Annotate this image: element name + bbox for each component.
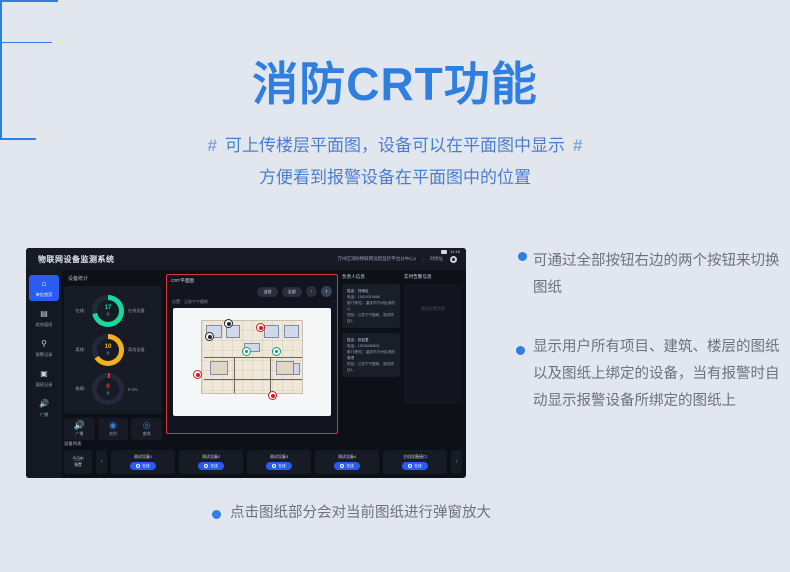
status-dot-icon [272, 464, 276, 468]
sidebar-item-broadcast[interactable]: 🔊 广播 [29, 395, 59, 421]
sidebar-label-2: 报警记录 [36, 352, 53, 358]
bell-icon: ⚲ [38, 339, 50, 350]
status-badge: 在线 [266, 462, 291, 470]
gauge-sub-2: 0.0% [128, 387, 152, 392]
device-list: 千日中 装置 ‹ 测试设备1 在线 测试设备2 在线 测试设备3 在线 测试设备 [64, 450, 462, 474]
device-status: 在线 [210, 464, 217, 469]
topbar-divider: | [422, 257, 423, 262]
gauge-unit-2: 台 [106, 390, 109, 395]
page-title: 消防CRT功能 [0, 48, 790, 114]
chevron-right-icon[interactable]: › [451, 450, 462, 474]
quick-button-inspect[interactable]: ◎ 查岗 [131, 418, 162, 440]
plan-wall [270, 357, 271, 393]
gauge-row-fault: 故障： 0 台 0.0% [68, 373, 158, 405]
alarm-header: 实时告警信息 [404, 274, 462, 280]
device-name: 测试设备1 [134, 454, 152, 460]
app-topbar: 物联网设备监测系统 万州区消防物联网远程监控平台分中心1 | 刘地址 11:16 [26, 248, 466, 270]
contact-org: 部门/职位：重庆市万州区消防公 [347, 300, 395, 312]
annotation-show-drawings: 显示用户所有项目、建筑、楼层的图纸以及图纸上绑定的设备，当有报警时自动显示报警设… [533, 334, 783, 415]
stats-header: 设备统计 [68, 275, 162, 282]
quick-button-realtime[interactable]: ◉ 实时 [98, 418, 129, 440]
plan-wall [204, 379, 302, 380]
device-status: 在线 [414, 464, 421, 469]
gauge-row-offline: 离线： 10 台 离线设备 [68, 334, 158, 366]
quick-label-1: 实时 [109, 431, 117, 437]
status-badge: 在线 [334, 462, 359, 470]
gauge-ring-online: 17 台 [92, 295, 124, 327]
owner-column: 负责人信息 姓名：刘地址 电话：15024210668 部门/职位：重庆市万州区… [342, 274, 400, 434]
annotation-click-zoom: 点击图纸部分会对当前图纸进行弹窗放大 [230, 500, 630, 527]
speaker-icon: 🔊 [74, 421, 85, 430]
leader-dot-1 [518, 252, 527, 261]
status-badge: 在线 [402, 462, 427, 470]
leader-line-2 [0, 42, 52, 44]
plan-wall [204, 357, 302, 358]
speaker-icon: 🔊 [38, 399, 50, 410]
leader-line-1-vertical [0, 2, 2, 42]
alarm-empty-state: 暂无告警信息 [404, 284, 462, 404]
gear-icon[interactable] [449, 255, 458, 264]
plan-room [284, 325, 299, 338]
gauge-unit-0: 台 [106, 311, 109, 316]
device-card[interactable]: 测试设备3 在线 [247, 450, 311, 474]
home-icon: ⌂ [38, 279, 50, 290]
hash-left: # [208, 136, 217, 155]
alarm-marker-red[interactable] [256, 323, 265, 332]
status-dot-icon [136, 464, 140, 468]
sidebar-item-duty[interactable]: ▣ 值班记录 [29, 365, 59, 391]
hash-right: # [573, 136, 582, 155]
app-logo: 物联网设备监测系统 [38, 254, 115, 265]
device-marker-green[interactable] [272, 347, 281, 356]
crt-controls: 当前 全部 ‹ › [167, 284, 337, 297]
gauge-sub-1: 离线设备 [128, 347, 152, 353]
status-dot-icon [340, 464, 344, 468]
cycle-icon: ◎ [143, 421, 151, 430]
leader-line-1 [0, 0, 58, 2]
annotation-switch-drawing: 可通过全部按钮右边的两个按钮来切换图纸 [533, 248, 783, 302]
status-mini: 11:16 [441, 249, 460, 254]
contact-org: 部门/职位：重庆市万州区消防管理 [347, 349, 395, 361]
sidebar-label-4: 广播 [40, 412, 48, 418]
alarm-column: 实时告警信息 暂无告警信息 [404, 274, 462, 434]
device-name: 主机设备接口 [403, 454, 427, 460]
crt-breadcrumb: 位置：江苏宁宁楼栋 [172, 299, 337, 305]
contact-note: 项目：江苏宁宁楼栋，测试项目1、 [347, 312, 395, 324]
crt-current-button[interactable]: 当前 [257, 287, 277, 297]
device-marker-dark[interactable] [205, 332, 214, 341]
alarm-marker-red[interactable] [268, 391, 277, 400]
quick-label-2: 查岗 [143, 431, 151, 437]
plan-wall [234, 357, 235, 393]
battery-icon [441, 250, 447, 254]
owner-header: 负责人信息 [342, 274, 400, 280]
quick-button-row: 🔊 广播 ◉ 实时 ◎ 查岗 [64, 418, 162, 440]
status-dot-icon [408, 464, 412, 468]
sidebar-item-monitor[interactable]: ▤ 综合值班 [29, 305, 59, 331]
status-dot-icon [204, 464, 208, 468]
sidebar-label-0: 单位首页 [36, 292, 53, 298]
page-root: 消防CRT功能 #可上传楼层平面图，设备可以在平面图中显示# 方便看到报警设备在… [0, 0, 790, 572]
gauge-label-2: 故障： [68, 386, 88, 392]
plan-room [264, 325, 279, 338]
subtitle-line-2: 方便看到报警设备在平面图中的位置 [0, 162, 790, 194]
gauge-label-0: 在线： [68, 308, 88, 314]
leader-dot-3 [212, 510, 221, 519]
quick-button-broadcast[interactable]: 🔊 广播 [64, 418, 95, 440]
gauge-ring-offline: 10 台 [92, 334, 124, 366]
device-strip-header: 设备列表 [64, 441, 462, 447]
device-name: 测试设备2 [202, 454, 220, 460]
page-subtitle: #可上传楼层平面图，设备可以在平面图中显示# 方便看到报警设备在平面图中的位置 [0, 130, 790, 194]
floor-plan-image [201, 320, 303, 394]
chevron-left-icon[interactable]: ‹ [306, 286, 317, 297]
device-card[interactable]: 测试设备1 在线 [111, 450, 175, 474]
gauge-sub-0: 在线设备 [128, 308, 152, 314]
device-name: 测试设备4 [338, 454, 356, 460]
leader-dot-2 [516, 346, 525, 355]
quick-label-0: 广播 [75, 431, 83, 437]
device-marker-green[interactable] [242, 347, 251, 356]
status-badge: 在线 [198, 462, 223, 470]
clock-label: 11:16 [450, 249, 460, 254]
status-badge: 在线 [130, 462, 155, 470]
device-card[interactable]: 主机设备接口 在线 [383, 450, 447, 474]
clipboard-icon: ▣ [38, 369, 50, 380]
crt-all-button[interactable]: 全部 [282, 287, 302, 297]
monitor-icon: ▤ [38, 309, 50, 320]
floor-plan-canvas[interactable] [173, 308, 331, 416]
device-name: 测试设备3 [270, 454, 288, 460]
sidebar-label-3: 值班记录 [36, 382, 53, 388]
sidebar-label-1: 综合值班 [36, 322, 53, 328]
device-status: 在线 [142, 464, 149, 469]
gauge-label-1: 离线： [68, 347, 88, 353]
device-primary-line2: 装置 [74, 462, 82, 468]
alarm-marker-red[interactable] [193, 370, 202, 379]
stats-box: 在线： 17 台 在线设备 离线： 10 台 [64, 286, 162, 414]
plan-room [210, 361, 228, 375]
sidebar-item-home[interactable]: ⌂ 单位首页 [29, 275, 59, 301]
gauge-row-online: 在线： 17 台 在线设备 [68, 295, 158, 327]
subtitle-line-1: 可上传楼层平面图，设备可以在平面图中显示 [225, 136, 565, 155]
contact-note: 项目：江苏宁宁楼栋，测试项目1、 [347, 361, 395, 373]
device-status: 在线 [278, 464, 285, 469]
crt-panel: CRT平面图 当前 全部 ‹ › 位置：江苏宁宁楼栋 [166, 274, 338, 434]
chevron-left-icon[interactable]: ‹ [96, 450, 107, 474]
sidebar-item-alarm[interactable]: ⚲ 报警记录 [29, 335, 59, 361]
plan-room [276, 361, 294, 375]
refresh-icon: ◉ [109, 421, 117, 430]
app-screenshot: 物联网设备监测系统 万州区消防物联网远程监控平台分中心1 | 刘地址 11:16… [26, 248, 466, 478]
contact-card[interactable]: 姓名：张如君 电话：15036988921 部门/职位：重庆市万州区消防管理 项… [342, 333, 400, 377]
device-status: 在线 [346, 464, 353, 469]
device-marker-dark[interactable] [224, 319, 233, 328]
gauge-ring-fault: 0 台 [92, 373, 124, 405]
device-card[interactable]: 测试设备4 在线 [315, 450, 379, 474]
topbar-user[interactable]: 刘地址 [430, 256, 444, 262]
chevron-right-icon[interactable]: › [321, 286, 332, 297]
gauge-unit-1: 台 [106, 350, 109, 355]
stats-column: 设备统计 在线： 17 台 在线设备 离线： [64, 272, 162, 426]
device-card-primary[interactable]: 千日中 装置 [64, 450, 92, 474]
topbar-right: 万州区消防物联网远程监控平台分中心1 | 刘地址 [337, 255, 466, 264]
info-panels: 负责人信息 姓名：刘地址 电话：15024210668 部门/职位：重庆市万州区… [342, 274, 462, 434]
contact-card[interactable]: 姓名：刘地址 电话：15024210668 部门/职位：重庆市万州区消防公 项目… [342, 284, 400, 328]
device-card[interactable]: 测试设备2 在线 [179, 450, 243, 474]
topbar-project: 万州区消防物联网远程监控平台分中心1 [337, 256, 416, 262]
device-strip: 设备列表 千日中 装置 ‹ 测试设备1 在线 测试设备2 在线 测试设备3 在线 [64, 441, 462, 475]
app-sidebar: ⌂ 单位首页 ▤ 综合值班 ⚲ 报警记录 ▣ 值班记录 🔊 广播 [26, 270, 62, 478]
